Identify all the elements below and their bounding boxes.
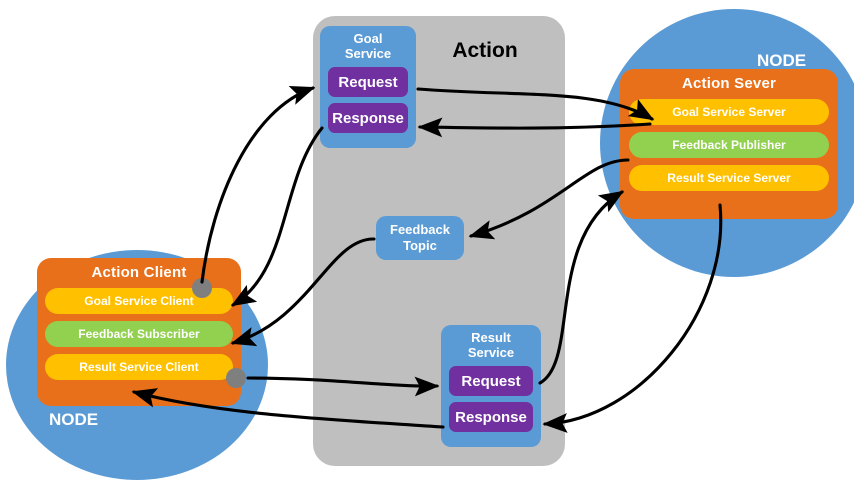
arrow-goal-response-to-goal-service-client (233, 128, 322, 305)
result-service-title-line2: Service (441, 345, 541, 360)
pill-result-service-client[interactable]: Result Service Client (45, 354, 233, 380)
result-service-box: Result Service Request Response (441, 325, 541, 447)
pill-feedback-subscriber[interactable]: Feedback Subscriber (45, 321, 233, 347)
action-server-box: Action Sever Goal Service Server Feedbac… (620, 69, 838, 219)
goal-service-title-line2: Service (320, 46, 416, 61)
feedback-topic-box[interactable]: Feedback Topic (376, 216, 464, 260)
pill-goal-service-server-label: Goal Service Server (672, 105, 785, 119)
pill-feedback-subscriber-label: Feedback Subscriber (78, 327, 199, 341)
pill-feedback-publisher[interactable]: Feedback Publisher (629, 132, 830, 158)
result-client-connector-dot (226, 368, 246, 388)
action-client-title: Action Client (91, 264, 186, 281)
goal-service-box: Goal Service Request Response (320, 26, 416, 148)
goal-response-box[interactable]: Response (328, 103, 409, 133)
result-service-title: Result Service (441, 330, 541, 360)
goal-request-box[interactable]: Request (328, 67, 409, 97)
result-service-title-line1: Result (441, 330, 541, 345)
client-node-label: NODE (49, 410, 98, 430)
action-client-box: Action Client Goal Service Client Feedba… (37, 258, 241, 406)
pill-result-service-client-label: Result Service Client (79, 360, 198, 374)
result-request-box[interactable]: Request (449, 366, 533, 396)
action-server-title: Action Sever (682, 75, 776, 92)
feedback-topic-line1: Feedback (390, 222, 450, 238)
feedback-topic-line2: Topic (390, 238, 450, 254)
goal-client-connector-dot (192, 278, 212, 298)
result-response-box[interactable]: Response (449, 402, 533, 432)
pill-result-service-server[interactable]: Result Service Server (629, 165, 830, 191)
action-panel-title: Action (450, 39, 520, 63)
goal-service-title: Goal Service (320, 31, 416, 61)
arrow-goal-client-to-goal-request (202, 88, 313, 282)
diagram-canvas: Action NODE Action Sever Goal Service Se… (0, 0, 854, 480)
server-node-label: NODE (757, 51, 806, 71)
pill-goal-service-client-label: Goal Service Client (84, 294, 193, 308)
pill-result-service-server-label: Result Service Server (667, 171, 790, 185)
goal-service-title-line1: Goal (320, 31, 416, 46)
pill-goal-service-server[interactable]: Goal Service Server (629, 99, 830, 125)
pill-feedback-publisher-label: Feedback Publisher (672, 138, 785, 152)
feedback-topic-label: Feedback Topic (390, 222, 450, 254)
